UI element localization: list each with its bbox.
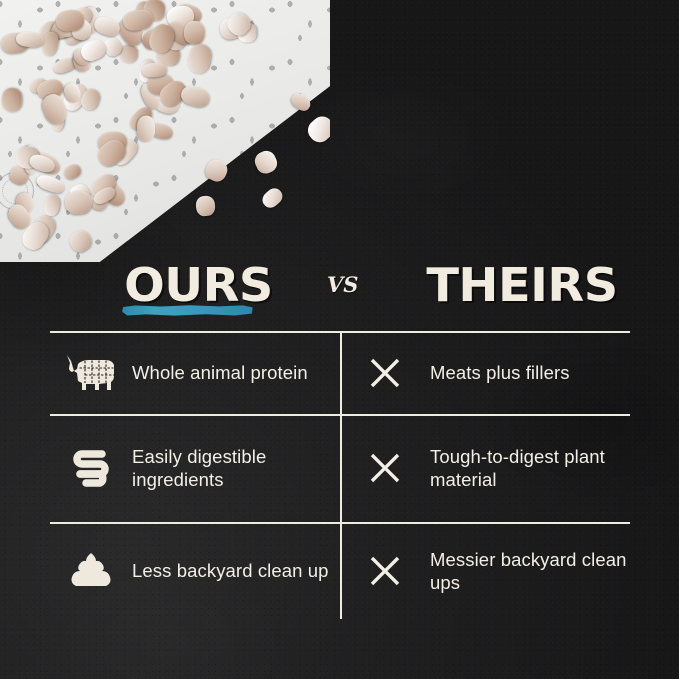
x-mark-icon	[340, 452, 430, 484]
food-pellet	[92, 14, 123, 39]
cell-ours-2: Easily digestible ingredients	[50, 414, 340, 522]
food-pellet	[304, 112, 330, 146]
food-pellet	[67, 227, 95, 255]
food-pellet	[65, 191, 93, 215]
food-pellet	[289, 90, 313, 113]
cell-theirs-1: Meats plus fillers	[340, 331, 630, 414]
food-pellet	[35, 172, 67, 195]
food-pellet	[252, 148, 280, 177]
food-pellet	[2, 88, 23, 112]
cell-ours-3: Less backyard clean up	[50, 522, 340, 619]
food-pellet	[179, 83, 212, 109]
cow-butcher-chart-icon	[50, 352, 132, 394]
cell-ours-1: Whole animal protein	[50, 331, 340, 414]
food-pellet	[195, 195, 216, 216]
table-row: Easily digestible ingredients Tough-to-d…	[50, 414, 630, 522]
theirs-label-3: Messier backyard clean ups	[430, 548, 630, 594]
intestine-icon	[50, 448, 132, 488]
headings-row: OURS VS THEIRS	[0, 258, 679, 324]
x-mark-icon	[340, 357, 430, 389]
table-row: Whole animal protein Meats plus fillers	[50, 331, 630, 414]
comparison-table: Whole animal protein Meats plus fillers	[50, 331, 630, 619]
ours-label-1: Whole animal protein	[132, 361, 308, 384]
food-pellet	[186, 43, 213, 76]
food-pellet	[43, 193, 61, 217]
table-row: Less backyard clean up Messier backyard …	[50, 522, 630, 619]
food-pellet	[62, 162, 83, 182]
cell-theirs-2: Tough-to-digest plant material	[340, 414, 630, 522]
cell-theirs-3: Messier backyard clean ups	[340, 522, 630, 619]
food-pellet	[203, 157, 230, 184]
food-pellet	[184, 20, 206, 44]
food-pellets	[0, 0, 330, 262]
ours-label-3: Less backyard clean up	[132, 559, 329, 582]
heading-theirs: THEIRS	[426, 258, 617, 312]
heading-vs: VS	[327, 272, 358, 297]
x-mark-icon	[340, 555, 430, 587]
poop-icon	[50, 551, 132, 591]
infographic-canvas: OURS VS THEIRS	[0, 0, 679, 679]
food-pellet	[259, 185, 285, 211]
theirs-label-1: Meats plus fillers	[430, 361, 570, 384]
heading-ours: OURS	[124, 258, 273, 312]
theirs-label-2: Tough-to-digest plant material	[430, 445, 630, 491]
ours-label-2: Easily digestible ingredients	[132, 445, 340, 491]
food-pellet	[137, 116, 155, 143]
product-photo	[0, 0, 330, 262]
